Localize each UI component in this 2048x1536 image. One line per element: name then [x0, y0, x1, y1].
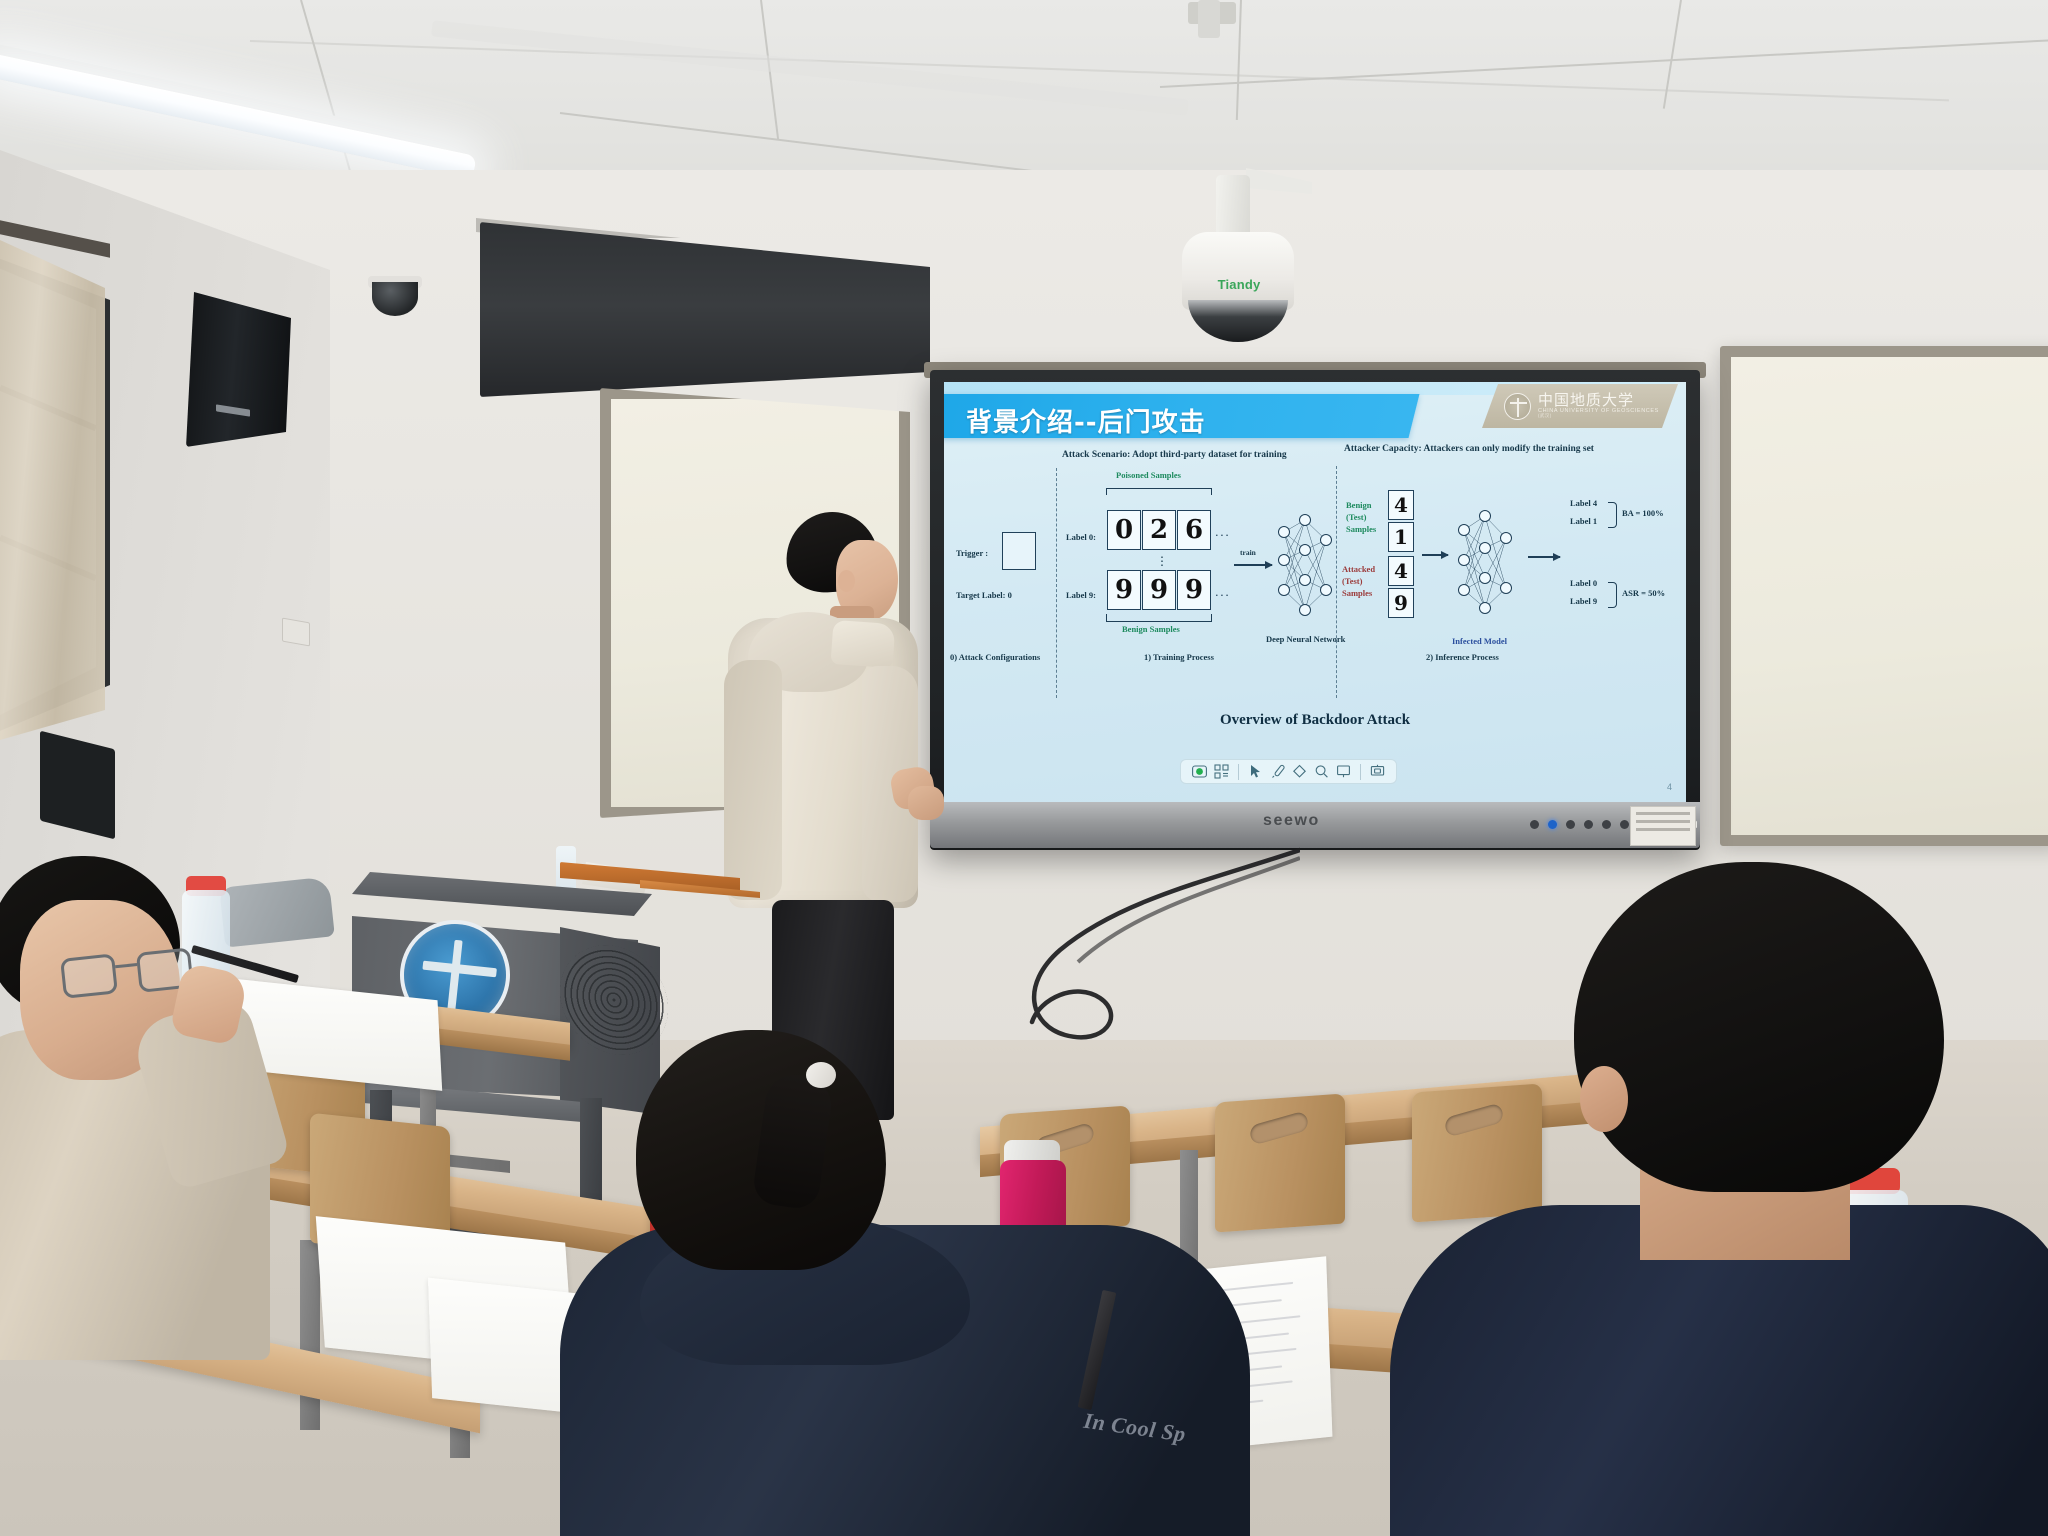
audience-right-ear	[1580, 1066, 1628, 1132]
benign-test-digit: 1	[1388, 522, 1414, 552]
ptz-camera-brand-label: Tiandy	[1204, 277, 1274, 292]
benign-test-label-1: Benign	[1346, 500, 1372, 510]
presentation-slide: 背景介绍--后门攻击 中国地质大学 CHINA UNIVERSITY OF GE…	[944, 382, 1686, 802]
university-campus: (武汉)	[1538, 414, 1659, 419]
diagram-caption: Overview of Backdoor Attack	[944, 712, 1686, 729]
wall-speaker	[186, 292, 291, 447]
divider-1	[1056, 468, 1057, 698]
toolbar-divider	[1360, 764, 1361, 780]
ptz-camera-body	[1182, 232, 1294, 310]
digit-cell: 9	[1177, 570, 1211, 610]
train-arrow-label: train	[1240, 548, 1256, 557]
university-logo: 中国地质大学 CHINA UNIVERSITY OF GEOSCIENCES (…	[1482, 384, 1678, 428]
row-label-0: Label 0:	[1066, 532, 1096, 542]
infected-model-graph	[1456, 496, 1514, 630]
output-label: Label 0	[1570, 578, 1597, 588]
screen-icon[interactable]	[1335, 763, 1352, 780]
output-metric-ba: BA = 100%	[1622, 508, 1664, 518]
classroom-scene: Tiandy 背景介绍--后门攻击 中国地质大学 CHINA UNIVERSIT…	[0, 0, 2048, 1536]
output-brace	[1608, 582, 1617, 608]
whiteboard-right	[1720, 346, 2048, 846]
row-label-9: Label 9:	[1066, 590, 1096, 600]
trigger-label: Trigger :	[956, 548, 988, 558]
row-ellipsis: ...	[1215, 584, 1230, 599]
slide-number: 4	[1667, 782, 1672, 792]
attacker-capacity-heading: Attacker Capacity: Attackers can only mo…	[1344, 444, 1594, 454]
benign-samples-caption: Benign Samples	[1122, 624, 1180, 634]
digit-cell: 9	[1142, 570, 1176, 610]
wall-outlet	[282, 618, 310, 647]
vertical-dots: ⋮	[1156, 554, 1168, 569]
hair-tie	[806, 1062, 836, 1088]
dnn-caption: Deep Neural Network	[1266, 634, 1345, 644]
hw-button[interactable]	[1602, 820, 1611, 829]
speaker-logo	[216, 404, 250, 416]
stage-1-caption: 1) Training Process	[1144, 652, 1214, 662]
presenter-left-arm	[724, 660, 782, 900]
trigger-box	[1002, 532, 1036, 570]
present-icon[interactable]	[1369, 763, 1386, 780]
interactive-display-screen[interactable]: 背景介绍--后门攻击 中国地质大学 CHINA UNIVERSITY OF GE…	[944, 382, 1686, 802]
benign-test-label-2: (Test)	[1346, 512, 1366, 522]
poisoned-brace	[1106, 488, 1212, 495]
cursor-icon[interactable]	[1247, 763, 1264, 780]
attacked-test-label-1: Attacked	[1342, 564, 1375, 574]
slide-title: 背景介绍--后门攻击	[966, 402, 1206, 439]
wall-mounted-box	[40, 731, 115, 840]
power-indicator	[1530, 820, 1539, 829]
output-metric-asr: ASR = 50%	[1622, 588, 1665, 598]
backdoor-attack-diagram: Attack Scenario: Adopt third-party datas…	[944, 444, 1686, 744]
benign-test-label-3: Samples	[1346, 524, 1376, 534]
qr-code-icon[interactable]	[1213, 763, 1230, 780]
magnifier-icon[interactable]	[1313, 763, 1330, 780]
output-brace	[1608, 502, 1617, 528]
draped-jacket	[219, 876, 335, 947]
pen-icon[interactable]	[1269, 763, 1286, 780]
chair	[1412, 1083, 1542, 1222]
university-seal-icon	[1504, 393, 1531, 420]
stage-0-caption: 0) Attack Configurations	[950, 652, 1040, 662]
attacked-test-label-3: Samples	[1342, 588, 1372, 598]
inference-arrow-2	[1528, 556, 1560, 558]
camera-mount-pipe	[1198, 0, 1220, 38]
hw-button[interactable]	[1620, 820, 1629, 829]
display-label-card	[1630, 806, 1696, 846]
infected-model-caption: Infected Model	[1452, 636, 1507, 646]
attacked-test-label-2: (Test)	[1342, 576, 1362, 586]
presenter-collar	[831, 620, 896, 668]
benign-brace	[1106, 614, 1212, 622]
desk-leg	[300, 1240, 320, 1430]
presentation-toolbar[interactable]	[1180, 759, 1397, 784]
output-label: Label 4	[1570, 498, 1597, 508]
toolbar-divider	[1238, 764, 1239, 780]
output-label: Label 1	[1570, 516, 1597, 526]
digit-cell: 9	[1107, 570, 1141, 610]
row-ellipsis: ...	[1215, 524, 1230, 539]
output-label: Label 9	[1570, 596, 1597, 606]
home-icon[interactable]	[1191, 763, 1208, 780]
poisoned-samples-caption: Poisoned Samples	[1116, 470, 1181, 480]
presenter-ear	[838, 570, 855, 592]
divider-2	[1336, 466, 1337, 698]
chair	[1215, 1093, 1345, 1232]
train-arrow	[1234, 564, 1272, 566]
university-name-cn: 中国地质大学	[1538, 393, 1659, 409]
benign-test-digit: 4	[1388, 490, 1414, 520]
attacked-test-digit: 4	[1388, 556, 1414, 586]
eraser-icon[interactable]	[1291, 763, 1308, 780]
stage-2-caption: 2) Inference Process	[1426, 652, 1499, 662]
digit-cell: 2	[1142, 510, 1176, 550]
digit-cell: 6	[1177, 510, 1211, 550]
hw-button[interactable]	[1566, 820, 1575, 829]
deep-neural-network-graph	[1276, 502, 1334, 632]
status-led	[1548, 820, 1557, 829]
presenter-hand	[908, 786, 944, 820]
attack-scenario-heading: Attack Scenario: Adopt third-party datas…	[1062, 450, 1287, 460]
attacked-test-digit: 9	[1388, 588, 1414, 618]
inference-arrow-1	[1422, 554, 1448, 556]
digit-cell: 0	[1107, 510, 1141, 550]
window-curtain	[0, 240, 105, 740]
hw-button[interactable]	[1584, 820, 1593, 829]
display-brand-label: seewo	[1263, 812, 1320, 830]
target-label: Target Label: 0	[956, 590, 1012, 600]
